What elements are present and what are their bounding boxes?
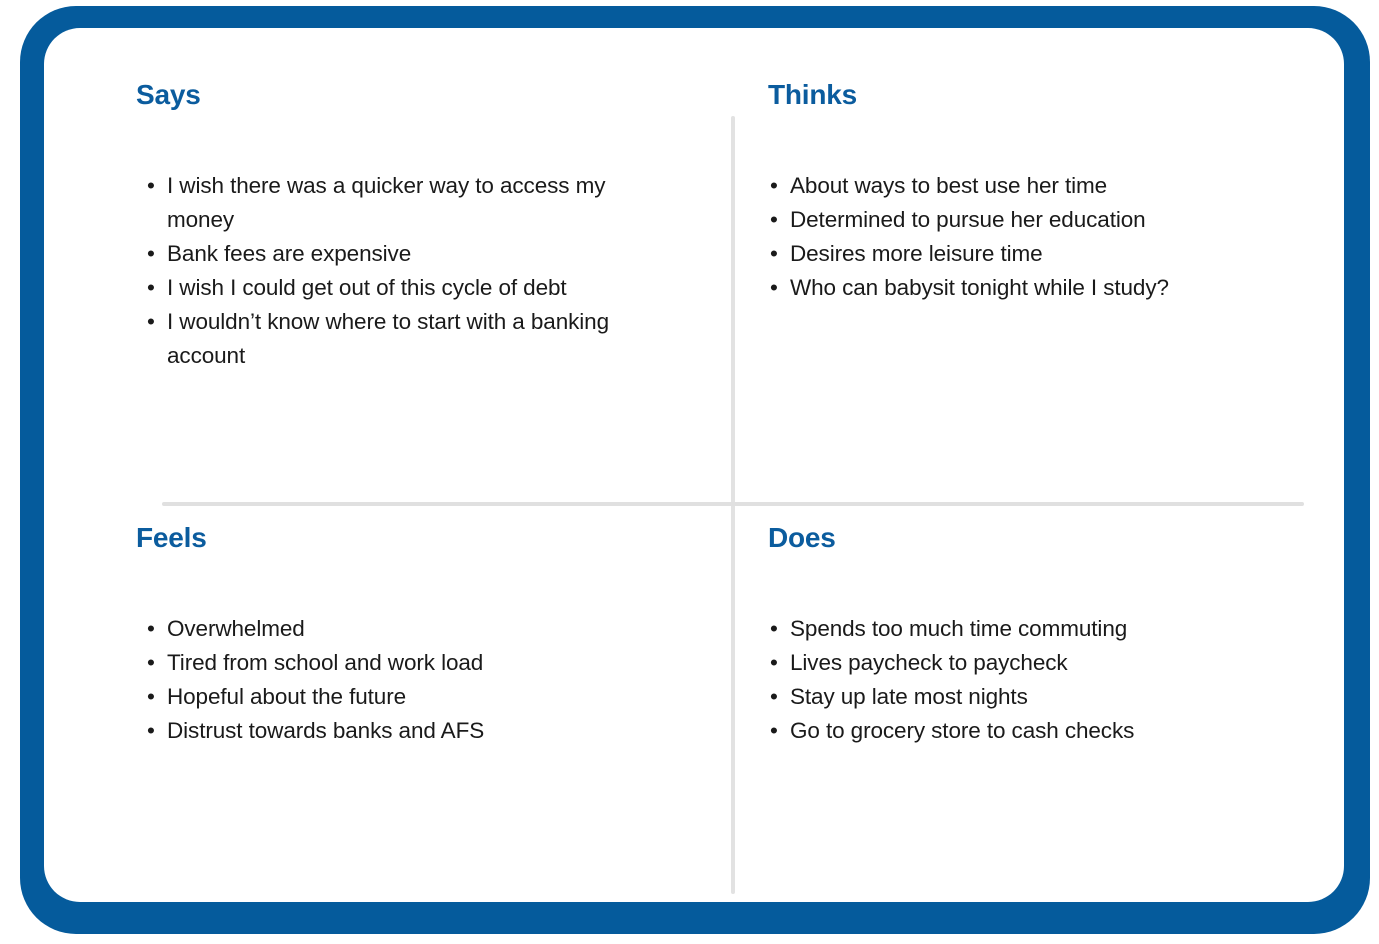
- quadrant-does-title: Does: [768, 523, 1268, 554]
- quadrant-says-list: I wish there was a quicker way to access…: [136, 169, 666, 373]
- list-item: Who can babysit tonight while I study?: [768, 271, 1268, 305]
- list-item: Go to grocery store to cash checks: [768, 714, 1268, 748]
- list-item: Stay up late most nights: [768, 680, 1268, 714]
- list-item: I wouldn’t know where to start with a ba…: [145, 305, 666, 373]
- quadrant-says: Says I wish there was a quicker way to a…: [136, 80, 666, 373]
- quadrant-does: Does Spends too much time commuting Live…: [768, 523, 1268, 748]
- horizontal-divider: [162, 502, 1304, 506]
- list-item: Distrust towards banks and AFS: [145, 714, 666, 748]
- list-item: About ways to best use her time: [768, 169, 1268, 203]
- list-item: I wish there was a quicker way to access…: [145, 169, 666, 237]
- empathy-map-diagram: Says I wish there was a quicker way to a…: [0, 0, 1379, 944]
- quadrant-feels-list: Overwhelmed Tired from school and work l…: [136, 612, 666, 748]
- list-item: Overwhelmed: [145, 612, 666, 646]
- quadrant-thinks: Thinks About ways to best use her time D…: [768, 80, 1268, 305]
- quadrant-says-title: Says: [136, 80, 666, 111]
- list-item: Spends too much time commuting: [768, 612, 1268, 646]
- list-item: Bank fees are expensive: [145, 237, 666, 271]
- list-item: Lives paycheck to paycheck: [768, 646, 1268, 680]
- list-item: Desires more leisure time: [768, 237, 1268, 271]
- list-item: Determined to pursue her education: [768, 203, 1268, 237]
- quadrant-feels-title: Feels: [136, 523, 666, 554]
- list-item: Tired from school and work load: [145, 646, 666, 680]
- list-item: I wish I could get out of this cycle of …: [145, 271, 666, 305]
- quadrant-feels: Feels Overwhelmed Tired from school and …: [136, 523, 666, 748]
- quadrant-does-list: Spends too much time commuting Lives pay…: [768, 612, 1268, 748]
- quadrant-thinks-list: About ways to best use her time Determin…: [768, 169, 1268, 305]
- list-item: Hopeful about the future: [145, 680, 666, 714]
- quadrant-thinks-title: Thinks: [768, 80, 1268, 111]
